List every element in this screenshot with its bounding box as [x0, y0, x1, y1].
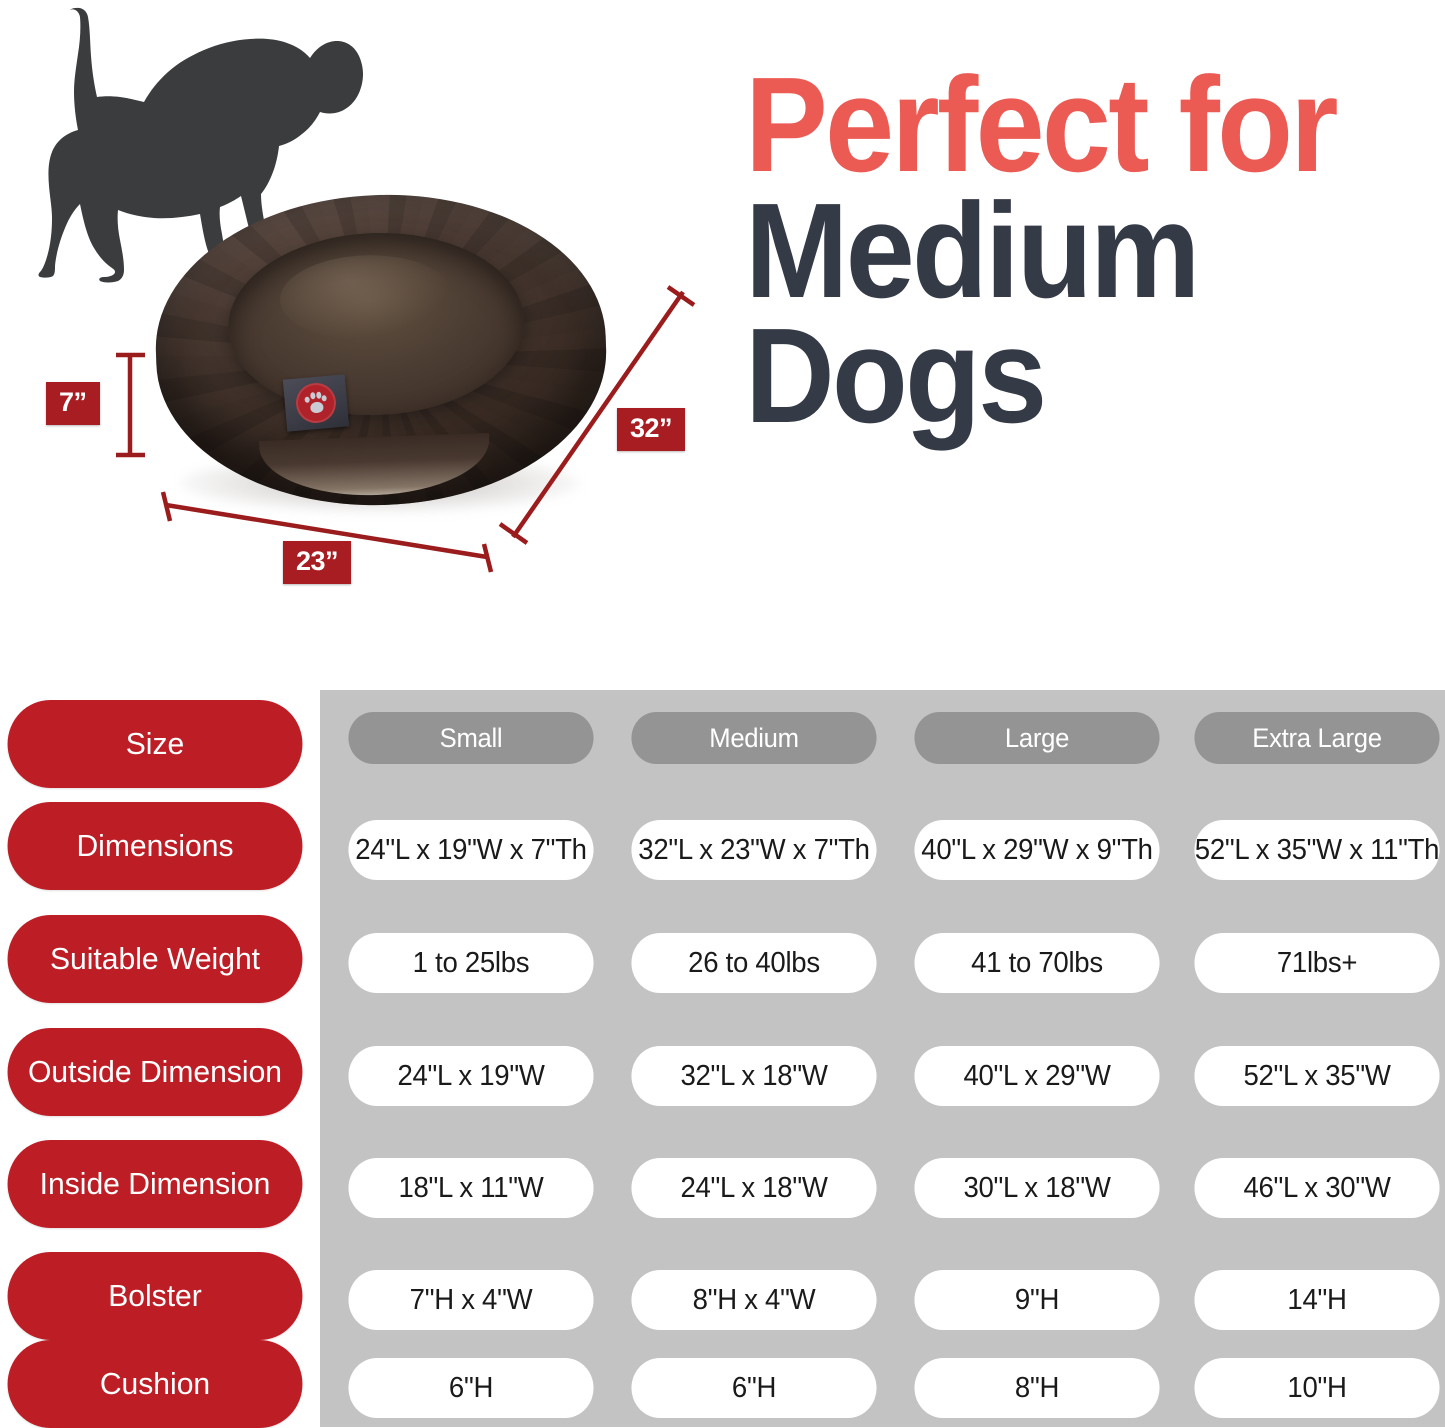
table-cell: 7"H x 4"W: [348, 1270, 593, 1330]
column-header-medium: Medium: [631, 712, 876, 764]
table-cell: 1 to 25lbs: [348, 933, 593, 993]
specification-table: SmallMediumLargeExtra Large24"L x 19"W x…: [0, 690, 1445, 1427]
table-cell: 40"L x 29"W x 9"Th: [914, 820, 1159, 880]
table-cell: 6"H: [348, 1358, 593, 1418]
table-grey-panel: SmallMediumLargeExtra Large24"L x 19"W x…: [320, 690, 1445, 1427]
hero-section: 7” 32” 23” Perfect for Medium Dogs: [0, 0, 1445, 680]
dimension-label-width: 23”: [283, 541, 351, 584]
row-label-bolster: Bolster: [8, 1252, 303, 1340]
product-image-dog-bed: [150, 185, 620, 545]
headline-line-1: Perfect for: [745, 62, 1389, 188]
table-cell: 52"L x 35"W x 11"Th: [1194, 820, 1439, 880]
table-cell: 10"H: [1194, 1358, 1439, 1418]
table-cell: 24"L x 18"W: [631, 1158, 876, 1218]
table-cell: 14"H: [1194, 1270, 1439, 1330]
dimension-label-length: 32”: [617, 408, 685, 451]
table-cell: 9"H: [914, 1270, 1159, 1330]
column-header-extra-large: Extra Large: [1194, 712, 1439, 764]
headline-line-3: Dogs: [745, 313, 1389, 439]
table-cell: 24"L x 19"W x 7"Th: [348, 820, 593, 880]
table-cell: 30"L x 18"W: [914, 1158, 1159, 1218]
row-label-size: Size: [8, 700, 303, 788]
row-label-inside-dimension: Inside Dimension: [8, 1140, 303, 1228]
table-cell: 52"L x 35"W: [1194, 1046, 1439, 1106]
row-label-suitable-weight: Suitable Weight: [8, 915, 303, 1003]
dimension-label-height: 7”: [46, 382, 100, 425]
table-cell: 32"L x 18"W: [631, 1046, 876, 1106]
headline-block: Perfect for Medium Dogs: [745, 62, 1445, 439]
table-cell: 46"L x 30"W: [1194, 1158, 1439, 1218]
column-header-small: Small: [348, 712, 593, 764]
table-cell: 32"L x 23"W x 7"Th: [631, 820, 876, 880]
row-label-dimensions: Dimensions: [8, 802, 303, 890]
table-cell: 18"L x 11"W: [348, 1158, 593, 1218]
column-header-large: Large: [914, 712, 1159, 764]
table-cell: 8"H: [914, 1358, 1159, 1418]
table-cell: 71lbs+: [1194, 933, 1439, 993]
paw-print-icon: [303, 390, 329, 416]
row-label-cushion: Cushion: [8, 1340, 303, 1428]
row-label-outside-dimension: Outside Dimension: [8, 1028, 303, 1116]
brand-logo-circle: [294, 381, 337, 424]
row-label-column: SizeDimensionsSuitable WeightOutside Dim…: [0, 690, 312, 1427]
cushion-sheen: [279, 252, 453, 342]
table-cell: 41 to 70lbs: [914, 933, 1159, 993]
majestic-pet-brand-tag: [283, 374, 349, 431]
table-cell: 24"L x 19"W: [348, 1046, 593, 1106]
table-cell: 6"H: [631, 1358, 876, 1418]
table-cell: 40"L x 29"W: [914, 1046, 1159, 1106]
headline-line-2: Medium: [745, 188, 1389, 314]
table-cell: 26 to 40lbs: [631, 933, 876, 993]
table-cell: 8"H x 4"W: [631, 1270, 876, 1330]
